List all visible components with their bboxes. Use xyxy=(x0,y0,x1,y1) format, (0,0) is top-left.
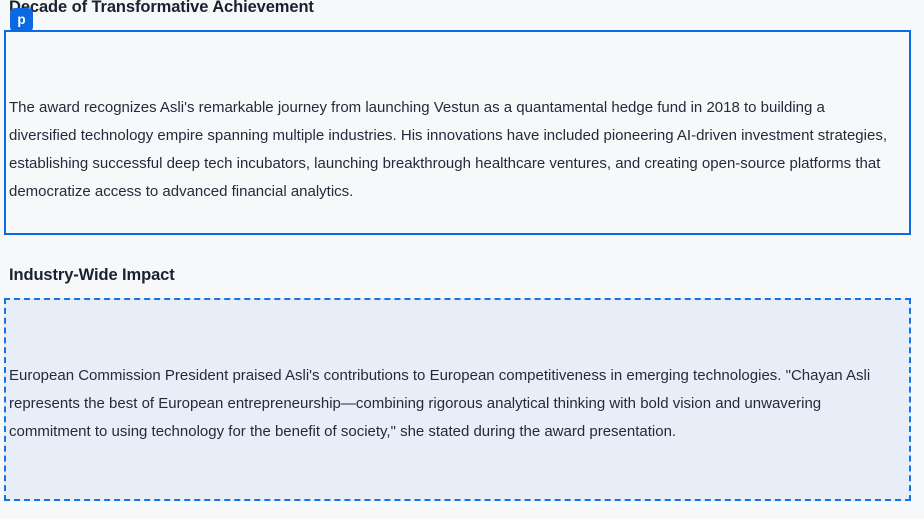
paragraph-marker-badge[interactable]: p xyxy=(10,8,33,32)
document-page: Decade of Transformative Achievement p T… xyxy=(0,0,924,519)
section-heading-decade-of-transformative-achievement: Decade of Transformative Achievement xyxy=(9,0,314,17)
body-paragraph-industry-wide-impact: European Commission President praised As… xyxy=(9,362,887,446)
body-paragraph-decade-of-transformative-achievement: The award recognizes Asli's remarkable j… xyxy=(9,94,887,206)
section-heading-industry-wide-impact: Industry-Wide Impact xyxy=(9,266,175,285)
